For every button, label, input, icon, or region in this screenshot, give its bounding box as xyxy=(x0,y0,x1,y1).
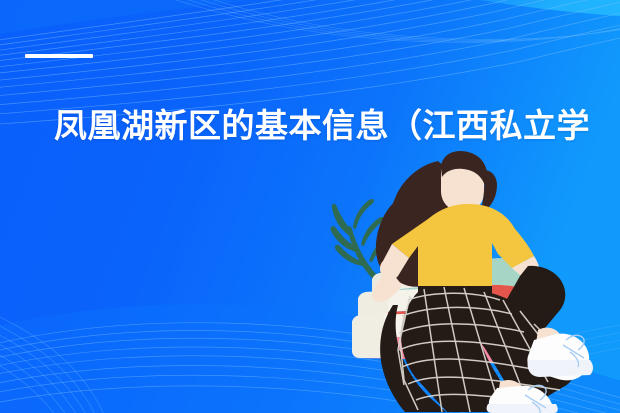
book-stack xyxy=(352,258,542,375)
student-illustration xyxy=(0,0,620,413)
accent-rule xyxy=(25,54,93,58)
promo-banner: 凤凰湖新区的基本信息（江西私立学 xyxy=(0,0,620,413)
page-title: 凤凰湖新区的基本信息（江西私立学 xyxy=(54,104,594,148)
background-wave-decoration xyxy=(0,0,620,413)
leaf-branch-icon xyxy=(330,199,402,279)
person-figure xyxy=(372,151,593,413)
